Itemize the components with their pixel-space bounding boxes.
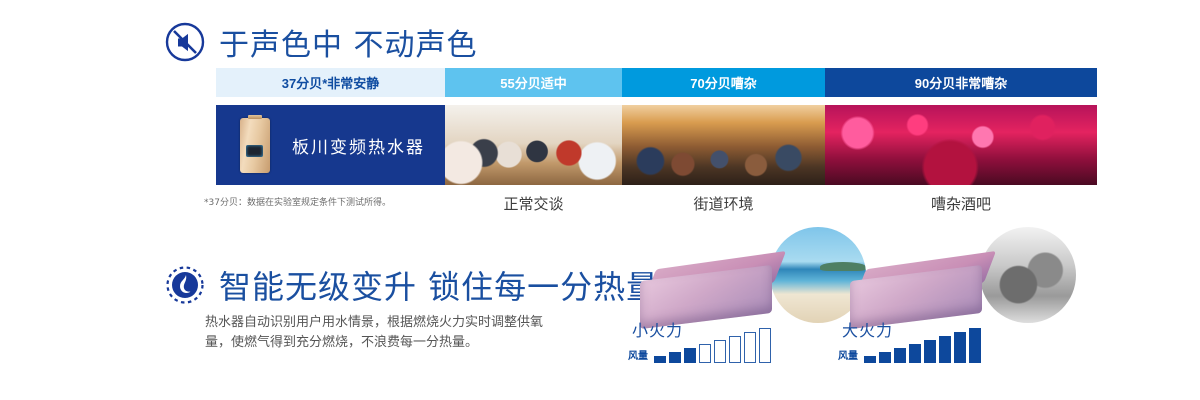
caption-bar: 嘈杂酒吧 (825, 193, 1097, 214)
meter-bar (864, 356, 876, 363)
scale-segment-label: 90分贝非常嘈杂 (915, 73, 1007, 92)
scale-segment-moderate: 55分贝适中 (445, 68, 622, 97)
scale-segment-label: 70分贝嘈杂 (690, 73, 756, 92)
meter-bar (924, 340, 936, 363)
product-panel: 板川变频热水器 (216, 105, 445, 185)
meter-bar (954, 332, 966, 363)
flame-moon-icon (163, 263, 207, 307)
meter-bar (939, 336, 951, 363)
meter-bar (684, 348, 696, 363)
meter-bar (714, 340, 726, 363)
footnote-text: *37分贝：数据在实验室规定条件下测试所得。 (204, 195, 391, 208)
section2-body-text: 热水器自动识别用户用水情景，根据燃烧火力实时调整供氧量，使燃气得到充分燃烧，不浪… (205, 313, 545, 353)
meter-bar (729, 336, 741, 363)
photo-bar (825, 105, 1097, 185)
meter-bar (909, 344, 921, 363)
airflow-meter-label: 风量 (628, 347, 648, 362)
meter-bar (654, 356, 666, 363)
water-heater-illustration (240, 118, 270, 173)
caption-street: 街道环境 (622, 193, 825, 214)
scale-segment-quiet: 37分贝*非常安静 (216, 68, 445, 97)
scale-segment-label: 37分贝*非常安静 (282, 73, 380, 92)
photo-street (622, 105, 825, 185)
meter-bar (699, 344, 711, 363)
street-photo (622, 105, 825, 185)
scale-segment-very-noisy: 90分贝非常嘈杂 (825, 68, 1097, 97)
meter-bar (969, 328, 981, 363)
airflow-meter-high: 风量 (838, 337, 981, 363)
section2-title: 智能无级变升 锁住每一分热量 (219, 262, 659, 308)
page-title: 于声色中 不动声色 (219, 20, 478, 64)
conversation-photo (445, 105, 622, 185)
scale-segment-noisy: 70分贝嘈杂 (622, 68, 825, 97)
comparison-image-row: 板川变频热水器 (216, 105, 1097, 185)
caption-conversation: 正常交谈 (445, 193, 622, 214)
meter-bar (744, 332, 756, 363)
airflow-meter-low: 风量 (628, 337, 771, 363)
nightclub-photo (825, 105, 1097, 185)
section2-header: 智能无级变升 锁住每一分热量 (163, 262, 659, 308)
product-label: 板川变频热水器 (292, 133, 425, 158)
page-root: 于声色中 不动声色 37分贝*非常安静 55分贝适中 70分贝嘈杂 90分贝非常… (0, 0, 1200, 400)
heater-display-icon (246, 145, 263, 157)
mute-speaker-icon (163, 20, 207, 64)
burner-high-power: 大火力 风量 (830, 225, 1080, 365)
meter-bar (894, 348, 906, 363)
meter-bar (669, 352, 681, 363)
airflow-meter-label: 风量 (838, 347, 858, 362)
section1-header: 于声色中 不动声色 (163, 20, 478, 64)
photo-normal-conversation (445, 105, 622, 185)
scale-segment-label: 55分贝适中 (500, 73, 566, 92)
meter-bar (879, 352, 891, 363)
meter-bar (759, 328, 771, 363)
decibel-scale-bar: 37分贝*非常安静 55分贝适中 70分贝嘈杂 90分贝非常嘈杂 (216, 68, 1097, 97)
